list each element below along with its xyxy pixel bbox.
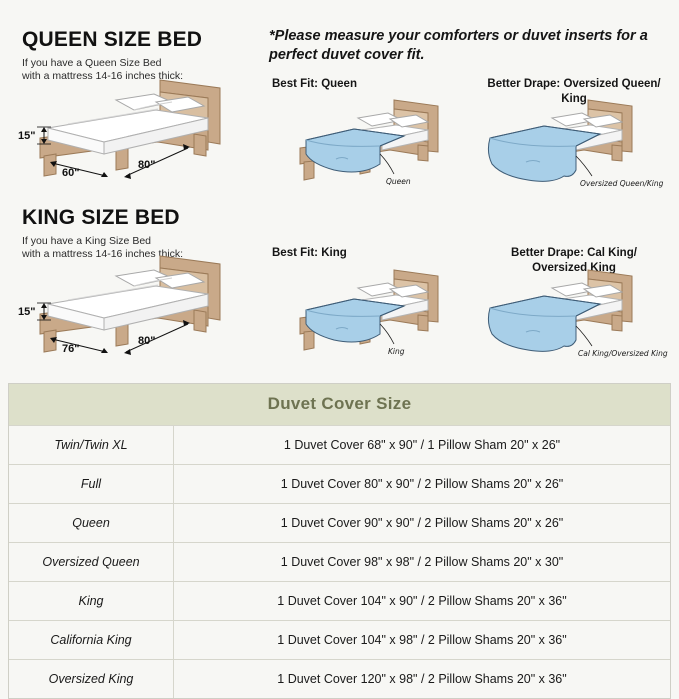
table-row: Twin/Twin XL1 Duvet Cover 68" x 90" / 1 … bbox=[9, 425, 670, 464]
heading-best-fit-king: Best Fit: King bbox=[272, 246, 347, 261]
queen-width-dimension: 60" bbox=[62, 167, 79, 179]
best-fit-king-illustration: King bbox=[276, 266, 466, 367]
king-width-dimension: 76" bbox=[62, 343, 79, 355]
table-cell-category: Queen bbox=[9, 504, 174, 542]
table-row: King1 Duvet Cover 104" x 90" / 2 Pillow … bbox=[9, 581, 670, 620]
king-subtitle-line1: If you have a King Size Bed bbox=[22, 235, 151, 247]
queen-length-dimension: 80" bbox=[138, 159, 155, 171]
queen-section-heading: QUEEN SIZE BED If you have a Queen Size … bbox=[22, 28, 202, 83]
table-cell-category: King bbox=[9, 582, 174, 620]
queen-bed-illustration: 15" 60" 80" bbox=[8, 76, 238, 193]
better-drape-king-illustration: Cal King/Oversized King bbox=[468, 266, 673, 367]
king-height-dimension: 15" bbox=[18, 306, 35, 318]
table-cell-description: 1 Duvet Cover 80" x 90" / 2 Pillow Shams… bbox=[174, 465, 670, 503]
table-cell-description: 1 Duvet Cover 104" x 90" / 2 Pillow Sham… bbox=[174, 582, 670, 620]
diagram-area: QUEEN SIZE BED If you have a Queen Size … bbox=[0, 0, 679, 372]
better-drape-queen-illustration: Oversized Queen/King bbox=[468, 96, 673, 197]
heading-better-drape-king-line1: Better Drape: Cal King/ bbox=[476, 246, 672, 261]
table-cell-category: Twin/Twin XL bbox=[9, 426, 174, 464]
table-row: Oversized Queen1 Duvet Cover 98" x 98" /… bbox=[9, 542, 670, 581]
best-fit-queen-label: Queen bbox=[386, 177, 411, 186]
king-title: KING SIZE BED bbox=[22, 206, 183, 230]
table-row: California King1 Duvet Cover 104" x 98" … bbox=[9, 620, 670, 659]
queen-subtitle-line1: If you have a Queen Size Bed bbox=[22, 57, 162, 69]
table-row: Full1 Duvet Cover 80" x 90" / 2 Pillow S… bbox=[9, 464, 670, 503]
better-drape-king-label: Cal King/Oversized King bbox=[578, 349, 668, 358]
table-body: Twin/Twin XL1 Duvet Cover 68" x 90" / 1 … bbox=[9, 425, 670, 698]
best-fit-queen-illustration: Queen bbox=[276, 96, 466, 197]
table-row: Queen1 Duvet Cover 90" x 90" / 2 Pillow … bbox=[9, 503, 670, 542]
table-cell-description: 1 Duvet Cover 98" x 98" / 2 Pillow Shams… bbox=[174, 543, 670, 581]
table-cell-category: Full bbox=[9, 465, 174, 503]
measure-note: *Please measure your comforters or duvet… bbox=[269, 27, 673, 65]
table-cell-category: California King bbox=[9, 621, 174, 659]
heading-better-drape-queen-line1: Better Drape: Oversized Queen/ bbox=[476, 77, 672, 92]
queen-height-dimension: 15" bbox=[18, 130, 35, 142]
table-cell-description: 1 Duvet Cover 104" x 98" / 2 Pillow Sham… bbox=[174, 621, 670, 659]
table-cell-description: 1 Duvet Cover 120" x 98" / 2 Pillow Sham… bbox=[174, 660, 670, 698]
table-cell-description: 1 Duvet Cover 90" x 90" / 2 Pillow Shams… bbox=[174, 504, 670, 542]
better-drape-queen-label: Oversized Queen/King bbox=[580, 179, 664, 188]
duvet-cover-size-table: Duvet Cover Size Twin/Twin XL1 Duvet Cov… bbox=[8, 383, 671, 699]
king-length-dimension: 80" bbox=[138, 335, 155, 347]
table-cell-category: Oversized Queen bbox=[9, 543, 174, 581]
table-cell-description: 1 Duvet Cover 68" x 90" / 1 Pillow Sham … bbox=[174, 426, 670, 464]
heading-best-fit-queen: Best Fit: Queen bbox=[272, 77, 357, 92]
table-header: Duvet Cover Size bbox=[9, 384, 670, 425]
best-fit-king-label: King bbox=[388, 347, 405, 356]
table-cell-category: Oversized King bbox=[9, 660, 174, 698]
king-bed-illustration: 15" 76" 80" bbox=[8, 252, 238, 369]
queen-title: QUEEN SIZE BED bbox=[22, 28, 202, 52]
